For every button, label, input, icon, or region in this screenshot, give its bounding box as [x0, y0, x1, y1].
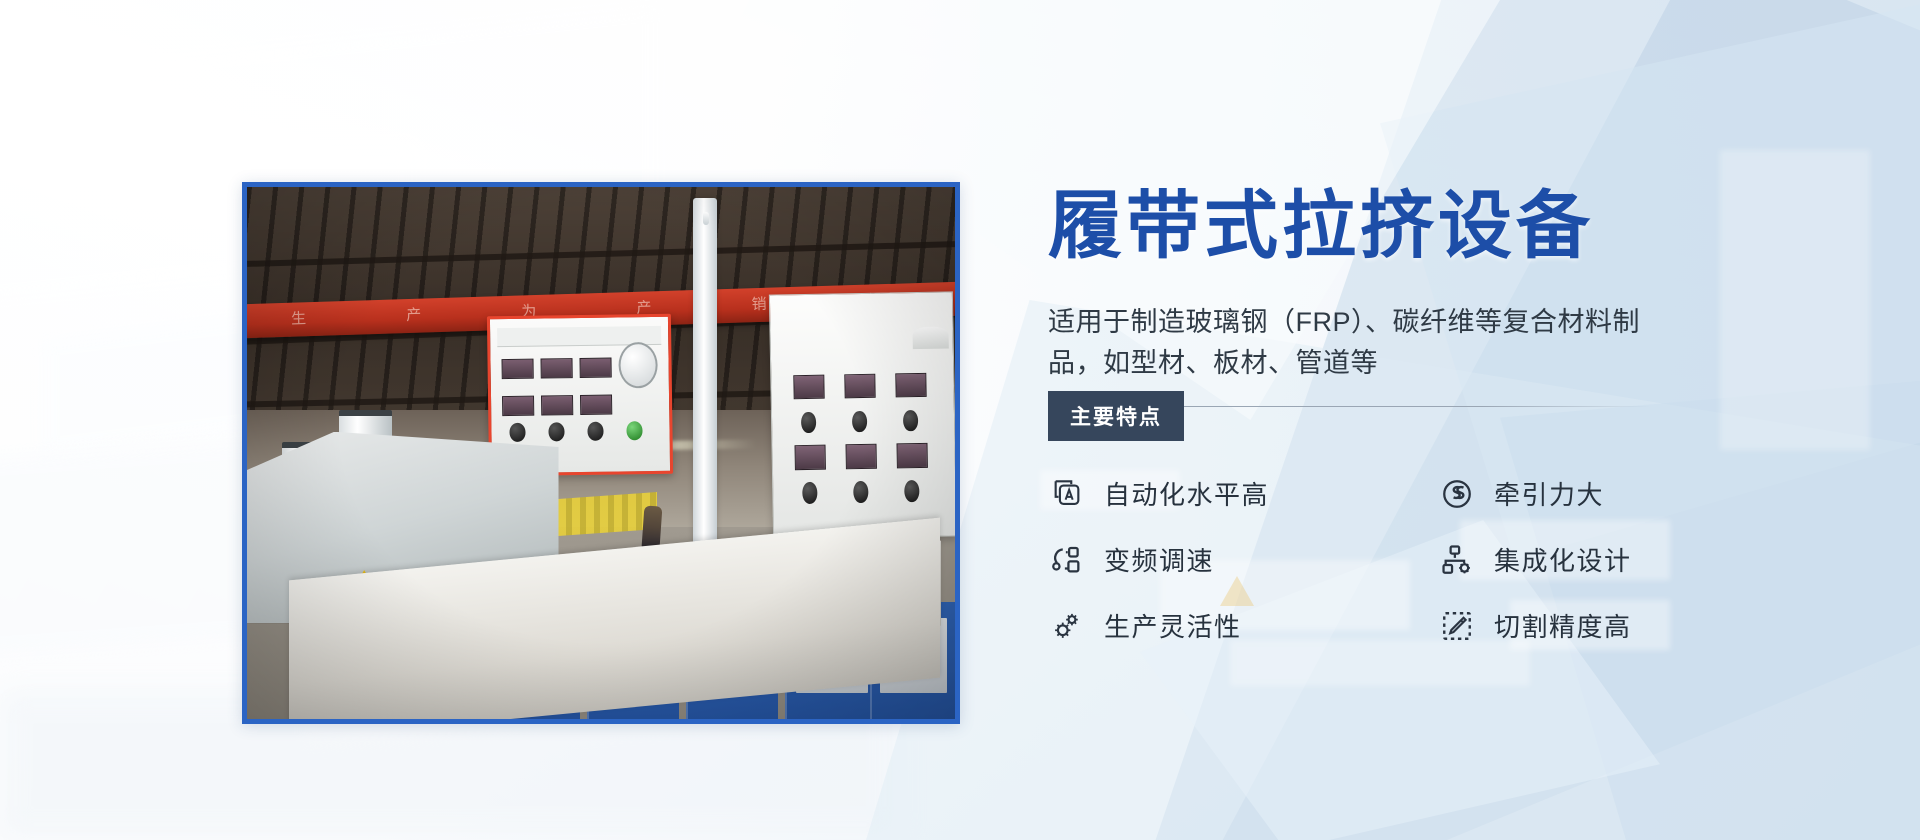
gears-icon	[1048, 607, 1086, 645]
product-hero-banner: 生 产 为 产 销 起 质	[0, 0, 1920, 840]
feature-label: 自动化水平高	[1104, 475, 1269, 512]
feature-list: 自动化水平高 牵引力大	[1048, 475, 1748, 645]
feature-item-cutting-precision[interactable]: 切割精度高	[1438, 607, 1748, 645]
frequency-nodes-icon	[1048, 541, 1086, 579]
product-description: 适用于制造玻璃钢（FRP）、碳纤维等复合材料制品，如型材、板材、管道等	[1048, 302, 1656, 384]
page-title: 履带式拉挤设备	[1048, 186, 1748, 266]
hero-content: 履带式拉挤设备 适用于制造玻璃钢（FRP）、碳纤维等复合材料制品，如型材、板材、…	[1048, 186, 1748, 645]
letter-a-card-icon	[1048, 475, 1086, 513]
pen-dashed-box-icon	[1438, 607, 1476, 645]
feature-label: 变频调速	[1104, 541, 1214, 578]
product-photo: 生 产 为 产 销 起 质	[247, 187, 955, 719]
feature-item-flexibility[interactable]: 生产灵活性	[1048, 607, 1438, 645]
feature-item-vfd[interactable]: 变频调速	[1048, 541, 1438, 579]
spring-coil-circle-icon	[1438, 475, 1476, 513]
feature-item-integrated-design[interactable]: 集成化设计	[1438, 541, 1748, 579]
feature-label: 生产灵活性	[1104, 607, 1242, 644]
feature-label: 牵引力大	[1494, 475, 1604, 512]
feature-label: 集成化设计	[1494, 541, 1632, 578]
hierarchy-gear-icon	[1438, 541, 1476, 579]
product-photo-frame: 生 产 为 产 销 起 质	[242, 182, 960, 724]
feature-item-automation[interactable]: 自动化水平高	[1048, 475, 1438, 513]
feature-item-traction[interactable]: 牵引力大	[1438, 475, 1748, 513]
status-badge: 主要特点	[1048, 391, 1184, 441]
feature-label: 切割精度高	[1494, 607, 1632, 644]
